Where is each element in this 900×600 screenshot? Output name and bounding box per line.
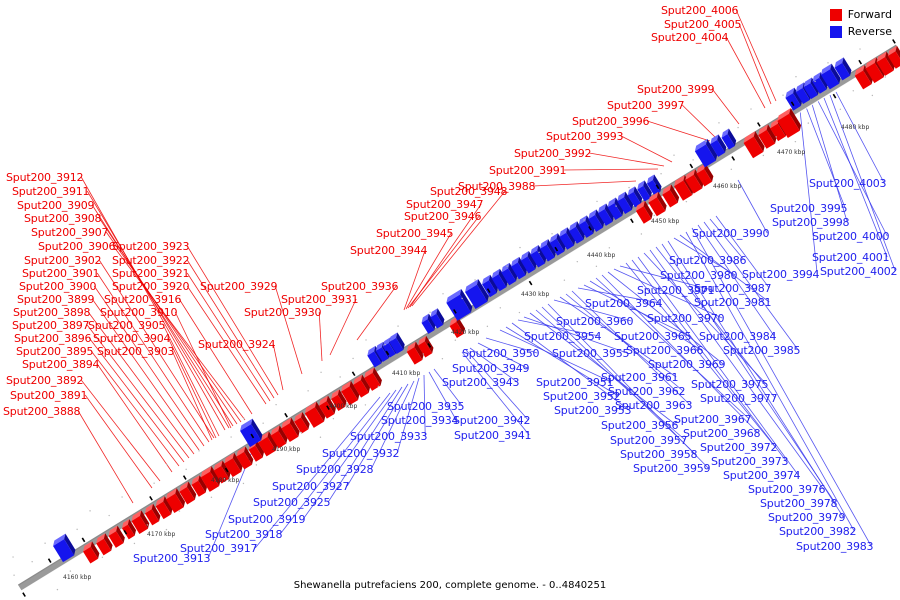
- gene-label-sput200_3931[interactable]: Sput200_3931: [281, 294, 358, 305]
- gene-label-sput200_3983[interactable]: Sput200_3983: [796, 541, 873, 552]
- gene-label-sput200_3981[interactable]: Sput200_3981: [694, 297, 771, 308]
- gene-label-sput200_3933[interactable]: Sput200_3933: [350, 431, 427, 442]
- gene-label-sput200_3920[interactable]: Sput200_3920: [112, 281, 189, 292]
- gene-label-sput200_3946[interactable]: Sput200_3946: [404, 211, 481, 222]
- axis-tick-label: 4180 kbp: [211, 478, 239, 484]
- gene-label-sput200_3907[interactable]: Sput200_3907: [31, 227, 108, 238]
- label-leader-line: [319, 312, 322, 361]
- gene-label-sput200_4005[interactable]: Sput200_4005: [664, 19, 741, 30]
- label-leader-line: [738, 180, 767, 233]
- gene-label-sput200_3901[interactable]: Sput200_3901: [22, 268, 99, 279]
- gene-label-sput200_3929[interactable]: Sput200_3929: [200, 281, 277, 292]
- gene-label-sput200_3987[interactable]: Sput200_3987: [694, 283, 771, 294]
- gene-label-sput200_3950[interactable]: Sput200_3950: [462, 348, 539, 359]
- label-leader-line: [330, 299, 356, 355]
- gene-label-sput200_3973[interactable]: Sput200_3973: [711, 456, 788, 467]
- label-leader-line: [78, 411, 133, 503]
- label-leader-line: [836, 92, 884, 183]
- gene-label-sput200_3932[interactable]: Sput200_3932: [322, 448, 399, 459]
- label-leader-line: [187, 246, 278, 395]
- forward-swatch-icon: [830, 9, 842, 21]
- gene-label-sput200_3912[interactable]: Sput200_3912: [6, 172, 83, 183]
- axis-tick-label: 4190 kbp: [272, 447, 300, 453]
- gene-label-sput200_3917[interactable]: Sput200_3917: [180, 543, 257, 554]
- gene-label-sput200_3966[interactable]: Sput200_3966: [626, 345, 703, 356]
- gene-label-sput200_3891[interactable]: Sput200_3891: [10, 390, 87, 401]
- label-leader-line: [589, 153, 664, 166]
- gene-label-sput200_3923[interactable]: Sput200_3923: [112, 241, 189, 252]
- gene-label-sput200_3903[interactable]: Sput200_3903: [97, 346, 174, 357]
- gene-label-sput200_3916[interactable]: Sput200_3916: [104, 294, 181, 305]
- gene-label-sput200_3970[interactable]: Sput200_3970: [647, 313, 724, 324]
- gene-label-sput200_3999[interactable]: Sput200_3999: [637, 84, 714, 95]
- label-leader-line: [85, 395, 152, 488]
- axis-tick-label: 4470 kbp: [777, 150, 805, 156]
- gene-label-sput200_3978[interactable]: Sput200_3978: [760, 498, 837, 509]
- label-leader-line: [564, 169, 658, 170]
- label-leader-line: [739, 24, 771, 104]
- gene-label-sput200_3965[interactable]: Sput200_3965: [614, 331, 691, 342]
- label-leader-line: [621, 136, 672, 162]
- gene-label-sput200_3945[interactable]: Sput200_3945: [376, 228, 453, 239]
- gene-label-sput200_3976[interactable]: Sput200_3976: [748, 484, 825, 495]
- gene-label-sput200_4001[interactable]: Sput200_4001: [812, 252, 889, 263]
- gene-label-sput200_3928[interactable]: Sput200_3928: [296, 464, 373, 475]
- reverse-swatch-icon: [830, 26, 842, 38]
- gene-label-sput200_3919[interactable]: Sput200_3919: [228, 514, 305, 525]
- label-leader-line: [736, 10, 776, 101]
- gene-label-sput200_3961[interactable]: Sput200_3961: [601, 372, 678, 383]
- gene-label-sput200_3954[interactable]: Sput200_3954: [524, 331, 601, 342]
- gene-label-sput200_3963[interactable]: Sput200_3963: [615, 400, 692, 411]
- gene-label-sput200_3888[interactable]: Sput200_3888: [3, 406, 80, 417]
- gene-label-sput200_3993[interactable]: Sput200_3993: [546, 131, 623, 142]
- label-leader-line: [357, 286, 396, 340]
- axis-tick-label: 4400 kbp: [329, 404, 357, 410]
- gene-label-sput200_3985[interactable]: Sput200_3985: [723, 345, 800, 356]
- gene-label-sput200_3904[interactable]: Sput200_3904: [93, 333, 170, 344]
- gene-label-sput200_3905[interactable]: Sput200_3905: [88, 320, 165, 331]
- axis-tick-label: 4440 kbp: [587, 253, 615, 259]
- gene-label-sput200_3930[interactable]: Sput200_3930: [244, 307, 321, 318]
- gene-label-sput200_3968[interactable]: Sput200_3968: [683, 428, 760, 439]
- gene-label-sput200_3900[interactable]: Sput200_3900: [19, 281, 96, 292]
- gene-label-sput200_3908[interactable]: Sput200_3908: [24, 213, 101, 224]
- genome-map-stage: Sput200_3912Sput200_3911Sput200_3909Sput…: [0, 0, 900, 600]
- gene-label-sput200_3949[interactable]: Sput200_3949: [452, 363, 529, 374]
- gene-label-sput200_3947[interactable]: Sput200_3947: [406, 199, 483, 210]
- gene-label-sput200_3899[interactable]: Sput200_3899: [17, 294, 94, 305]
- gene-label-sput200_4000[interactable]: Sput200_4000: [812, 231, 889, 242]
- gene-label-sput200_3979[interactable]: Sput200_3979: [768, 512, 845, 523]
- axis-tick-label: 4410 kbp: [392, 371, 420, 377]
- gene-label-sput200_4002[interactable]: Sput200_4002: [820, 266, 897, 277]
- gene-label-sput200_3960[interactable]: Sput200_3960: [556, 316, 633, 327]
- legend-item-reverse[interactable]: Reverse: [830, 25, 892, 38]
- label-leader-line: [806, 107, 845, 208]
- gene-label-sput200_3943[interactable]: Sput200_3943: [442, 377, 519, 388]
- gene-label-sput200_3936[interactable]: Sput200_3936: [321, 281, 398, 292]
- legend-forward-label: Forward: [848, 8, 892, 21]
- label-leader-line: [97, 364, 172, 472]
- axis-tick-label: 4170 kbp: [147, 532, 175, 538]
- gene-label-sput200_3910[interactable]: Sput200_3910: [100, 307, 177, 318]
- label-leader-line: [81, 380, 160, 481]
- gene-label-sput200_3897[interactable]: Sput200_3897: [12, 320, 89, 331]
- gene-label-sput200_3958[interactable]: Sput200_3958: [620, 449, 697, 460]
- gene-label-sput200_3892[interactable]: Sput200_3892: [6, 375, 83, 386]
- legend: Forward Reverse: [830, 8, 892, 42]
- gene-label-sput200_3941[interactable]: Sput200_3941: [454, 430, 531, 441]
- gene-label-sput200_3927[interactable]: Sput200_3927: [272, 481, 349, 492]
- gene-label-sput200_3955[interactable]: Sput200_3955: [552, 348, 629, 359]
- gene-label-sput200_3922[interactable]: Sput200_3922: [112, 255, 189, 266]
- gene-label-sput200_3969[interactable]: Sput200_3969: [648, 359, 725, 370]
- gene-label-sput200_3992[interactable]: Sput200_3992: [514, 148, 591, 159]
- gene-label-sput200_4006[interactable]: Sput200_4006: [661, 5, 738, 16]
- gene-label-sput200_3982[interactable]: Sput200_3982: [779, 526, 856, 537]
- gene-label-sput200_3894[interactable]: Sput200_3894: [22, 359, 99, 370]
- gene-label-sput200_3984[interactable]: Sput200_3984: [699, 331, 776, 342]
- gene-label-sput200_3975[interactable]: Sput200_3975: [691, 379, 768, 390]
- gene-label-sput200_3944[interactable]: Sput200_3944: [350, 245, 427, 256]
- gene-label-sput200_3918[interactable]: Sput200_3918: [205, 529, 282, 540]
- gene-label-sput200_3977[interactable]: Sput200_3977: [700, 393, 777, 404]
- gene-label-sput200_3921[interactable]: Sput200_3921: [112, 268, 189, 279]
- legend-item-forward[interactable]: Forward: [830, 8, 892, 21]
- axis-tick-label: 4460 kbp: [713, 184, 741, 190]
- gene-label-sput200_3994[interactable]: Sput200_3994: [742, 269, 819, 280]
- gene-label-sput200_3935[interactable]: Sput200_3935: [387, 401, 464, 412]
- gene-label-sput200_3909[interactable]: Sput200_3909: [17, 200, 94, 211]
- gene-label-sput200_3959[interactable]: Sput200_3959: [633, 463, 710, 474]
- axis-tick-label: 4480 kbp: [841, 125, 869, 131]
- label-leader-line: [726, 37, 765, 108]
- label-leader-line: [533, 181, 636, 186]
- axis-tick-label: 4450 kbp: [651, 219, 679, 225]
- gene-label-sput200_3898[interactable]: Sput200_3898: [13, 307, 90, 318]
- gene-label-sput200_3990[interactable]: Sput200_3990: [692, 228, 769, 239]
- gene-label-sput200_3997[interactable]: Sput200_3997: [607, 100, 684, 111]
- gene-label-sput200_3974[interactable]: Sput200_3974: [723, 470, 800, 481]
- gene-label-sput200_3956[interactable]: Sput200_3956: [601, 420, 678, 431]
- gene-label-sput200_3925[interactable]: Sput200_3925: [253, 497, 330, 508]
- gene-label-sput200_3980[interactable]: Sput200_3980: [660, 270, 737, 281]
- gene-label-sput200_3988[interactable]: Sput200_3988: [458, 181, 535, 192]
- gene-label-sput200_3924[interactable]: Sput200_3924: [198, 339, 275, 350]
- gene-label-sput200_3991[interactable]: Sput200_3991: [489, 165, 566, 176]
- legend-reverse-label: Reverse: [848, 25, 892, 38]
- label-leader-line: [800, 110, 817, 274]
- label-leader-line: [647, 121, 710, 141]
- gene-label-sput200_3967[interactable]: Sput200_3967: [674, 414, 751, 425]
- gene-label-sput200_4003[interactable]: Sput200_4003: [809, 178, 886, 189]
- gene-label-sput200_3934[interactable]: Sput200_3934: [381, 415, 458, 426]
- gene-label-sput200_3906[interactable]: Sput200_3906: [38, 241, 115, 252]
- gene-label-sput200_3895[interactable]: Sput200_3895: [16, 346, 93, 357]
- gene-label-sput200_3957[interactable]: Sput200_3957: [610, 435, 687, 446]
- gene-label-sput200_3962[interactable]: Sput200_3962: [608, 386, 685, 397]
- gene-label-sput200_3896[interactable]: Sput200_3896: [14, 333, 91, 344]
- gene-label-sput200_3911[interactable]: Sput200_3911: [12, 186, 89, 197]
- gene-label-sput200_3986[interactable]: Sput200_3986: [669, 255, 746, 266]
- gene-label-sput200_4004[interactable]: Sput200_4004: [651, 32, 728, 43]
- axis-tick-label: 4430 kbp: [521, 292, 549, 298]
- axis-tick-label: 4420 kbp: [451, 330, 479, 336]
- label-leader-line: [712, 89, 739, 124]
- gene-label-sput200_3942[interactable]: Sput200_3942: [453, 415, 530, 426]
- gene-label-sput200_3995[interactable]: Sput200_3995: [770, 203, 847, 214]
- gene-label-sput200_3902[interactable]: Sput200_3902: [24, 255, 101, 266]
- label-leader-line: [682, 105, 716, 138]
- gene-label-sput200_3998[interactable]: Sput200_3998: [772, 217, 849, 228]
- genome-caption: Shewanella putrefaciens 200, complete ge…: [0, 580, 900, 591]
- gene-label-sput200_3972[interactable]: Sput200_3972: [700, 442, 777, 453]
- gene-label-sput200_3996[interactable]: Sput200_3996: [572, 116, 649, 127]
- gene-label-sput200_3964[interactable]: Sput200_3964: [585, 298, 662, 309]
